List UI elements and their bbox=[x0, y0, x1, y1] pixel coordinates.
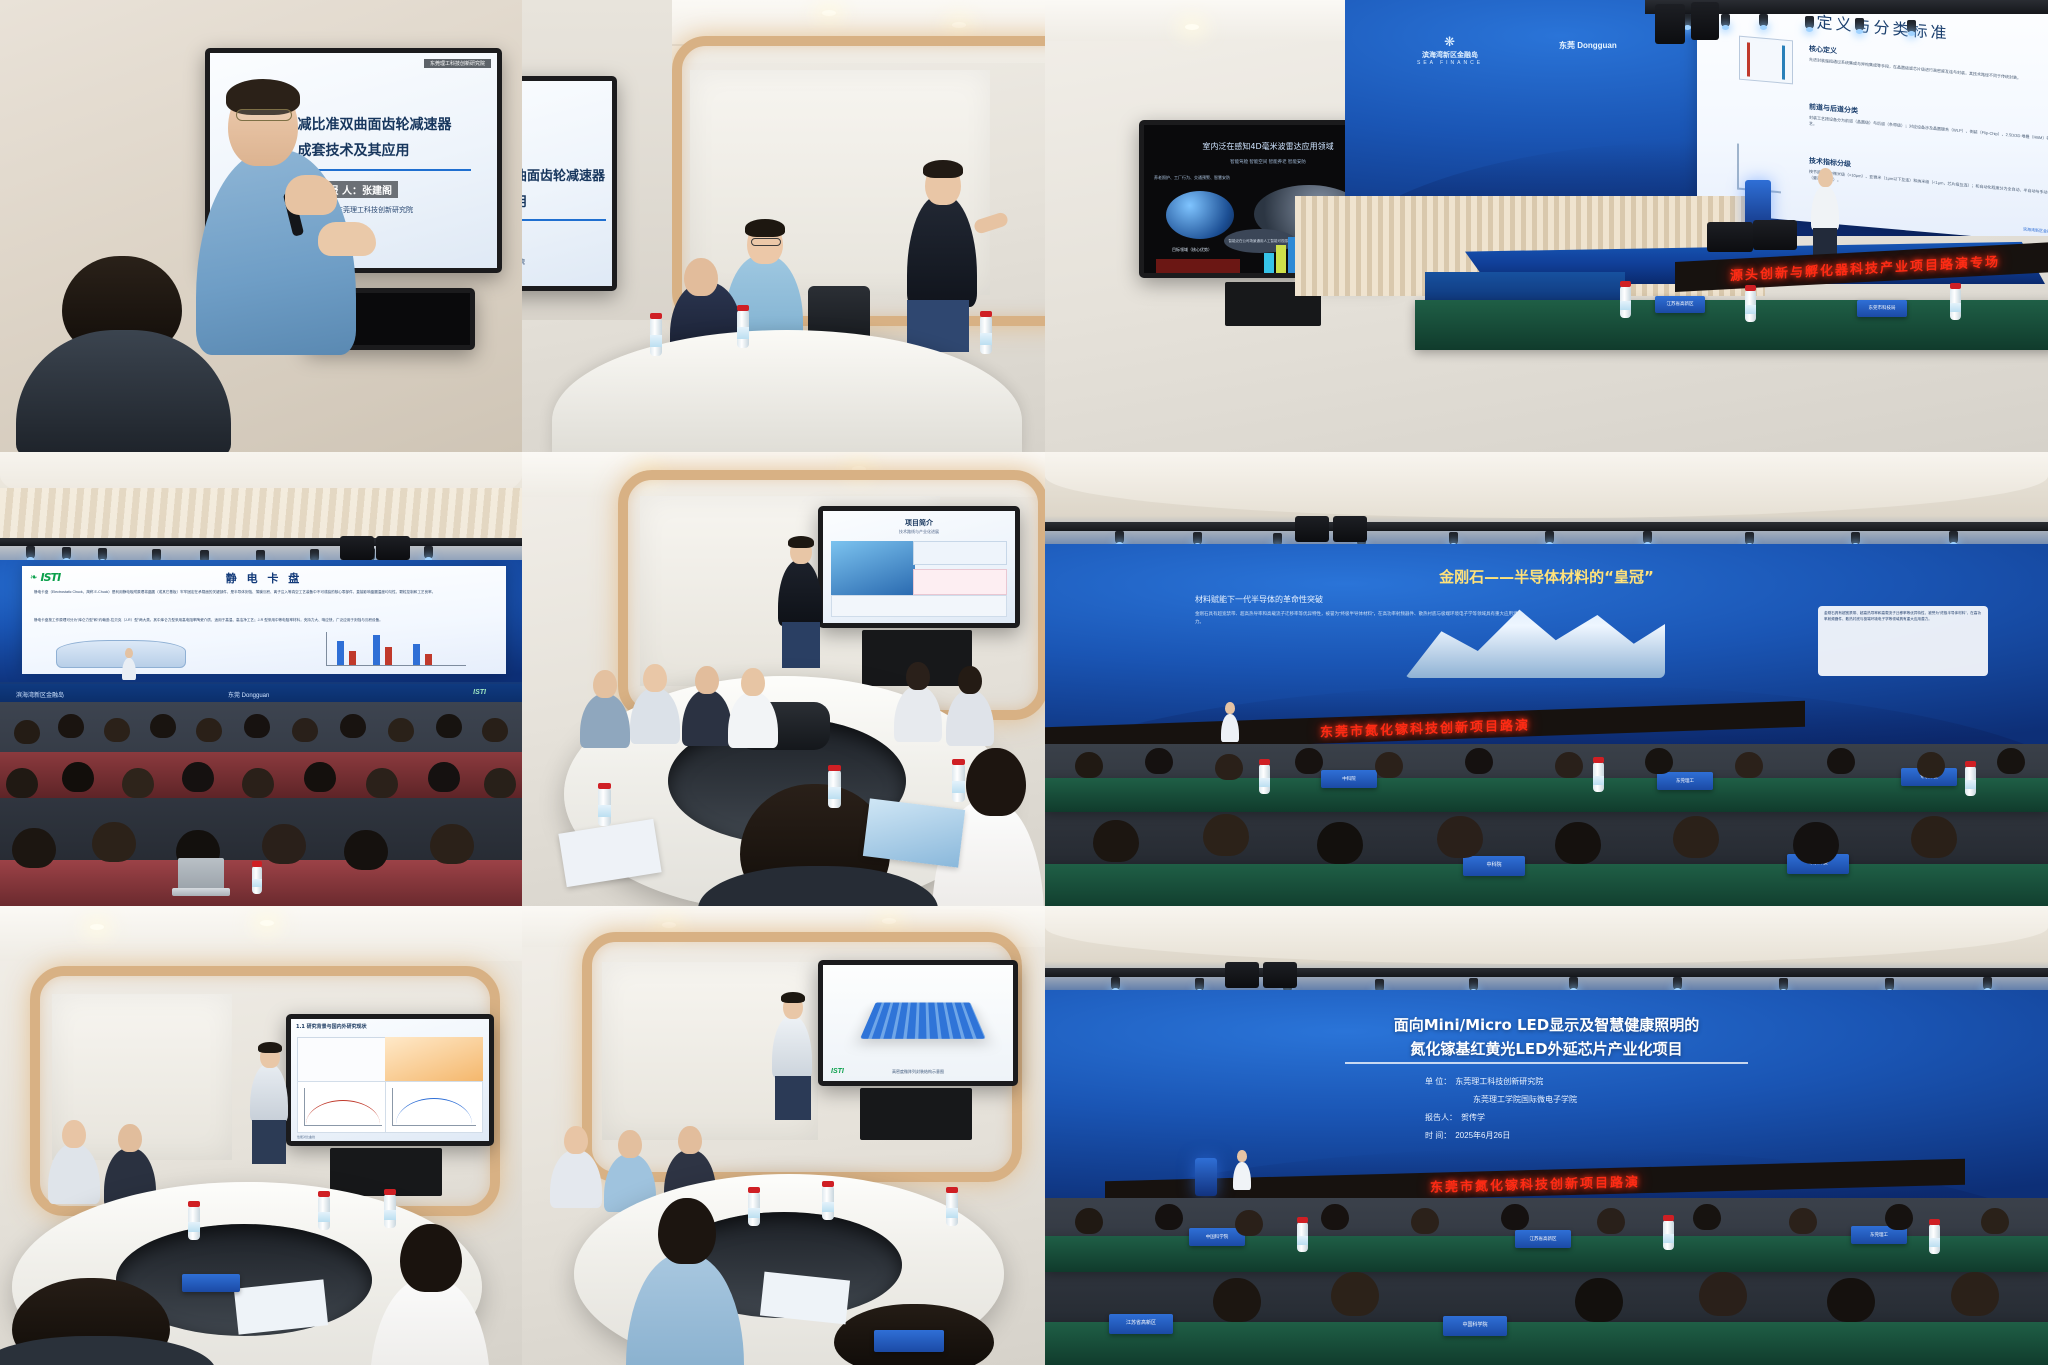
line-array-speaker bbox=[1691, 2, 1719, 40]
audience-desk-row bbox=[1045, 778, 2048, 812]
bar-graphic bbox=[1264, 253, 1274, 275]
slide-figure bbox=[385, 1037, 483, 1083]
water-bottle bbox=[384, 1194, 396, 1228]
tv-slide-caption: 高密度微阵列封装结构示意图 bbox=[823, 1069, 1013, 1075]
wall-display: ISTI 高密度微阵列封装结构示意图 bbox=[818, 960, 1018, 1086]
date-value: 2025年6月26日 bbox=[1455, 1130, 1510, 1141]
water-bottle bbox=[952, 764, 965, 802]
unit-label: 单 位： bbox=[1425, 1076, 1451, 1087]
water-bottle bbox=[1620, 286, 1631, 318]
reporter-label: 报告人： bbox=[1425, 1112, 1457, 1123]
photo-panel-middle-left: ❧ ISTI 静 电 卡 盘 静电卡盘（Electrostatic Chuck，… bbox=[0, 452, 522, 906]
stage-drape bbox=[0, 488, 522, 544]
wall-display: 1.1 研究背景与国内外研究现状 性能对比曲线 bbox=[286, 1014, 494, 1146]
slide-chart bbox=[385, 1081, 483, 1133]
ceiling-downlight bbox=[1185, 24, 1199, 30]
date-label: 时 间： bbox=[1425, 1130, 1451, 1141]
floor-monitor-speaker bbox=[1753, 220, 1797, 250]
glasses-icon bbox=[236, 109, 292, 121]
tv-slide-subtitle: 技术路线与产业化进展 bbox=[823, 529, 1015, 535]
led-slide-unit-value-2: 东莞理工学院国际微电子学院 bbox=[1473, 1094, 1577, 1105]
water-bottle bbox=[828, 770, 841, 808]
laptop-screen bbox=[178, 858, 224, 890]
led-slide-body-2: 静电卡盘按工作原理可分为“库仑力型”和“约翰逊-拉贝克（J-R）型”两大类。其中… bbox=[34, 618, 494, 624]
slide-box bbox=[913, 569, 1007, 595]
led-slide-date-row: 时 间： 2025年6月26日 bbox=[1425, 1130, 1510, 1141]
led-slide-body-1: 静电卡盘（Electrostatic Chuck，简称 E-Chuck）是利用静… bbox=[34, 590, 494, 596]
unit-value-1: 东莞理工科技创新研究院 bbox=[1455, 1076, 1543, 1087]
desk-nameplate: 中国科学院 bbox=[1443, 1316, 1507, 1336]
stage-podium bbox=[1195, 1158, 1217, 1196]
water-bottle bbox=[946, 1192, 958, 1226]
reporter-value: 贺传学 bbox=[1461, 1112, 1485, 1123]
photo-panel-bottom-center: ISTI 高密度微阵列封装结构示意图 bbox=[522, 906, 1045, 1365]
stage-light bbox=[1673, 977, 1682, 990]
led-video-wall: 金刚石——半导体材料的“皇冠” 材料赋能下一代半导体的革命性突破 金刚石具有超宽… bbox=[1045, 544, 2048, 744]
stage-light bbox=[1643, 531, 1652, 544]
desk-nameplate: 东莞市科技局 bbox=[1857, 300, 1907, 317]
adjacent-display-bleed: 精密高减比准双曲面齿轮减速器 成套技术及其应用 单位：东莞市东莞理工科技创新研究… bbox=[522, 76, 617, 291]
attendee-head bbox=[684, 258, 718, 296]
line-array-speaker bbox=[1225, 962, 1259, 988]
water-bottle bbox=[318, 1196, 330, 1230]
ceiling-downlight bbox=[952, 22, 966, 28]
desk-nameplate bbox=[874, 1330, 944, 1352]
venue-logo-2: 东莞 Dongguan bbox=[228, 690, 269, 699]
tv-slide-title: 1.1 研究背景与国内外研究现状 bbox=[296, 1023, 484, 1030]
chuck-diagram bbox=[56, 640, 186, 668]
led-slide-panel: ❧ ISTI 静 电 卡 盘 静电卡盘（Electrostatic Chuck，… bbox=[22, 566, 506, 674]
slide-figure-1 bbox=[1739, 36, 1793, 85]
photo-panel-top-right: 室内泛在感知4D毫米波雷达应用领域 智能驾舱 智能空间 智能养老 智能安防 养老… bbox=[1045, 0, 2048, 452]
led-slide-body: 金刚石具有超宽禁带、超高热导率和高载流子迁移率等优异特性，被誉为“终极半导体材料… bbox=[1195, 610, 1525, 625]
desk-nameplate: 中科院 bbox=[1321, 770, 1377, 788]
stage-light bbox=[1983, 977, 1992, 990]
water-bottle bbox=[1593, 762, 1604, 792]
stage-light bbox=[26, 546, 35, 559]
led-slide-title: 金刚石——半导体材料的“皇冠” bbox=[1045, 566, 2048, 587]
led-slide-reporter-row: 报告人： 贺传学 bbox=[1425, 1112, 1485, 1123]
photo-panel-top-left: 东莞理工科技创新研究院 精密高减比准双曲面齿轮减速器 成套技术及其应用 汇 报 … bbox=[0, 0, 522, 452]
tv-slide-label-bottom: 目标领域（核心优势） bbox=[1172, 247, 1212, 253]
printed-document bbox=[863, 798, 965, 867]
desk-nameplate: 东莞理工 bbox=[1657, 772, 1713, 790]
stage-light bbox=[1805, 16, 1814, 29]
water-bottle bbox=[737, 310, 749, 348]
globe-graphic bbox=[1166, 191, 1234, 239]
panel-body: 金刚石具有超宽禁带、超高热导率和高载流子迁移率等优异特性，被誉为“终极半导体材料… bbox=[1824, 611, 1982, 623]
bleed-title-line1: 精密高减比准双曲面齿轮减速器 bbox=[522, 165, 605, 184]
venue-logo-en: SEA FINANCE bbox=[1417, 60, 1483, 66]
desk-nameplate bbox=[182, 1274, 240, 1292]
slide-section-3: 技术指标分级 按节距可分为微米级（>10μm）、亚微米（1μm以下互连）和纳米级… bbox=[1809, 156, 2048, 203]
line-array-speaker bbox=[1655, 4, 1685, 44]
printed-document bbox=[760, 1272, 850, 1325]
line-array-speaker bbox=[376, 536, 410, 560]
slide-box bbox=[297, 1037, 389, 1083]
slide-box bbox=[913, 541, 1007, 565]
stage-light bbox=[1111, 977, 1120, 990]
line-array-speaker bbox=[1333, 516, 1367, 542]
bleed-divider bbox=[522, 219, 606, 221]
ceiling-downlight bbox=[260, 920, 274, 926]
led-video-wall: ❧ ISTI 静 电 卡 盘 静电卡盘（Electrostatic Chuck，… bbox=[0, 560, 522, 682]
desk-nameplate: 江苏省高新区 bbox=[1655, 296, 1705, 313]
venue-logo-sea-finance: ❋ 滨海湾新区金融岛 SEA FINANCE bbox=[1417, 34, 1483, 66]
floor-monitor-speaker bbox=[1707, 222, 1753, 252]
audience-desk-row bbox=[1045, 864, 2048, 906]
led-slide-title-line2: 氮化镓基红黄光LED外延芯片产业化项目 bbox=[1045, 1038, 2048, 1059]
speaker-hand-right bbox=[285, 175, 337, 215]
led-slide-subtitle: 材料赋能下一代半导体的革命性突破 bbox=[1195, 594, 1323, 605]
venue-logo-1: 滨海湾新区金融岛 bbox=[16, 690, 64, 699]
led-slide-title-line1: 面向Mini/Micro LED显示及智慧健康照明的 bbox=[1045, 1014, 2048, 1035]
presenter-hair bbox=[923, 160, 963, 178]
water-bottle bbox=[1950, 288, 1961, 320]
stage-light bbox=[1907, 20, 1916, 33]
led-slide-unit-row-1: 单 位： 东莞理工科技创新研究院 bbox=[1425, 1076, 1543, 1087]
slide-section-2: 前道与后道分类 封装工艺按设备分为前道（晶圆级）与后道（条带级）；对应设备涉及晶… bbox=[1809, 102, 2048, 149]
water-bottle bbox=[598, 788, 611, 826]
water-bottle bbox=[1663, 1220, 1674, 1250]
line-array-speaker bbox=[1263, 962, 1297, 988]
slide-chart bbox=[297, 1081, 389, 1133]
tv-slide-label-left: 养老照护、工厂行为、交通预警、智慧安防 bbox=[1154, 175, 1230, 181]
stage-light bbox=[1855, 18, 1864, 31]
water-bottle bbox=[1297, 1222, 1308, 1252]
venue-logo-dongguan: 东莞 Dongguan bbox=[1559, 40, 1617, 51]
tv-stand bbox=[860, 1088, 972, 1140]
stage-light bbox=[1545, 531, 1554, 544]
wall-display: 项目简介 技术路线与产业化进展 bbox=[818, 506, 1020, 628]
slide-corner-tag: 东莞理工科技创新研究院 bbox=[424, 59, 491, 68]
desk-nameplate: 中科院 bbox=[1463, 856, 1525, 876]
water-bottle bbox=[1965, 766, 1976, 796]
attendee-head bbox=[966, 748, 1026, 816]
photo-panel-bottom-right: 面向Mini/Micro LED显示及智慧健康照明的 氮化镓基红黄光LED外延芯… bbox=[1045, 906, 2048, 1365]
slide-section-1: 核心定义 先进封装是指通过系统集成与异构集成等手段，在晶圆级或芯片级进行高密度互… bbox=[1809, 44, 2048, 85]
stage-light bbox=[424, 546, 433, 559]
photo-panel-middle-center: 项目简介 技术路线与产业化进展 bbox=[522, 452, 1045, 906]
ceiling-downlight bbox=[882, 918, 896, 924]
stage-light bbox=[1759, 14, 1768, 27]
stage-light bbox=[1569, 977, 1578, 990]
mountain-graphic bbox=[1405, 588, 1665, 678]
speaker-hand-left bbox=[318, 222, 376, 256]
photo-collage: 东莞理工科技创新研究院 精密高减比准双曲面齿轮减速器 成套技术及其应用 汇 报 … bbox=[0, 0, 2048, 1365]
microled-array-render bbox=[860, 1002, 986, 1038]
lighting-truss bbox=[1045, 522, 2048, 531]
venue-logo-3: ISTI bbox=[473, 689, 486, 696]
presenter-trousers bbox=[782, 622, 820, 668]
venue-logo-cn: 滨海湾新区金融岛 bbox=[1417, 50, 1483, 60]
led-slide-title: 静 电 卡 盘 bbox=[22, 570, 506, 586]
stage-light bbox=[62, 547, 71, 560]
lighting-truss bbox=[1045, 968, 2048, 977]
tv-slide-chart-note: 性能对比曲线 bbox=[297, 1135, 315, 1139]
slide-box bbox=[831, 595, 1007, 617]
bleed-title-line2: 成套技术及其应用 bbox=[522, 191, 527, 210]
water-bottle bbox=[650, 318, 662, 356]
mini-bar-chart bbox=[326, 632, 466, 666]
presenter-head bbox=[1818, 168, 1833, 187]
water-bottle bbox=[822, 1186, 834, 1220]
water-bottle bbox=[252, 866, 262, 894]
ceiling-downlight bbox=[822, 10, 836, 16]
line-array-speaker bbox=[1295, 516, 1329, 542]
room-ceiling bbox=[0, 906, 522, 961]
bleed-affiliation: 单位：东莞市东莞理工科技创新研究院 bbox=[522, 257, 525, 266]
bar-graphic bbox=[1276, 245, 1286, 275]
printed-document bbox=[234, 1279, 328, 1334]
led-slide-footer-logo: 滨海湾新区金融岛 bbox=[2023, 227, 2048, 236]
led-slide-panel: 金刚石具有超宽禁带、超高热导率和高载流子迁移率等优异特性，被誉为“终极半导体材料… bbox=[1818, 606, 1988, 676]
ceiling-downlight bbox=[90, 924, 104, 930]
line-array-speaker bbox=[340, 536, 374, 560]
laptop-base bbox=[172, 888, 230, 896]
desk-nameplate: 江苏省高新区 bbox=[1109, 1314, 1173, 1334]
ceiling-downlight bbox=[662, 922, 676, 928]
presenter-hair bbox=[788, 536, 814, 548]
tv-slide-note bbox=[1156, 259, 1240, 278]
desk-nameplate: 江苏省高新区 bbox=[1515, 1230, 1571, 1248]
audience-desk-row bbox=[1045, 1322, 2048, 1365]
attendee-hair bbox=[745, 219, 785, 237]
tv-slide-title: 项目简介 bbox=[823, 518, 1015, 528]
water-bottle bbox=[1745, 290, 1756, 322]
tv-slide: ISTI 高密度微阵列封装结构示意图 bbox=[823, 965, 1013, 1081]
water-bottle bbox=[188, 1206, 200, 1240]
stage-light bbox=[1949, 531, 1958, 544]
water-bottle bbox=[748, 1192, 760, 1226]
venue-logo-dg: 东莞 Dongguan bbox=[1559, 40, 1617, 51]
water-bottle bbox=[980, 316, 992, 354]
slide-photo bbox=[831, 541, 915, 595]
water-bottle bbox=[1929, 1224, 1940, 1254]
stage-light bbox=[1115, 531, 1124, 544]
led-slide-divider bbox=[1345, 1062, 1748, 1064]
photo-panel-middle-right: 金刚石——半导体材料的“皇冠” 材料赋能下一代半导体的革命性突破 金刚石具有超宽… bbox=[1045, 452, 2048, 906]
water-bottle bbox=[1259, 764, 1270, 794]
photo-panel-bottom-left: 1.1 研究背景与国内外研究现状 性能对比曲线 bbox=[0, 906, 522, 1365]
lighting-truss bbox=[0, 538, 522, 546]
glasses-icon bbox=[751, 238, 781, 246]
photo-panel-top-center: 精密高减比准双曲面齿轮减速器 成套技术及其应用 单位：东莞市东莞理工科技创新研究… bbox=[522, 0, 1045, 452]
stage-light bbox=[1721, 14, 1730, 27]
